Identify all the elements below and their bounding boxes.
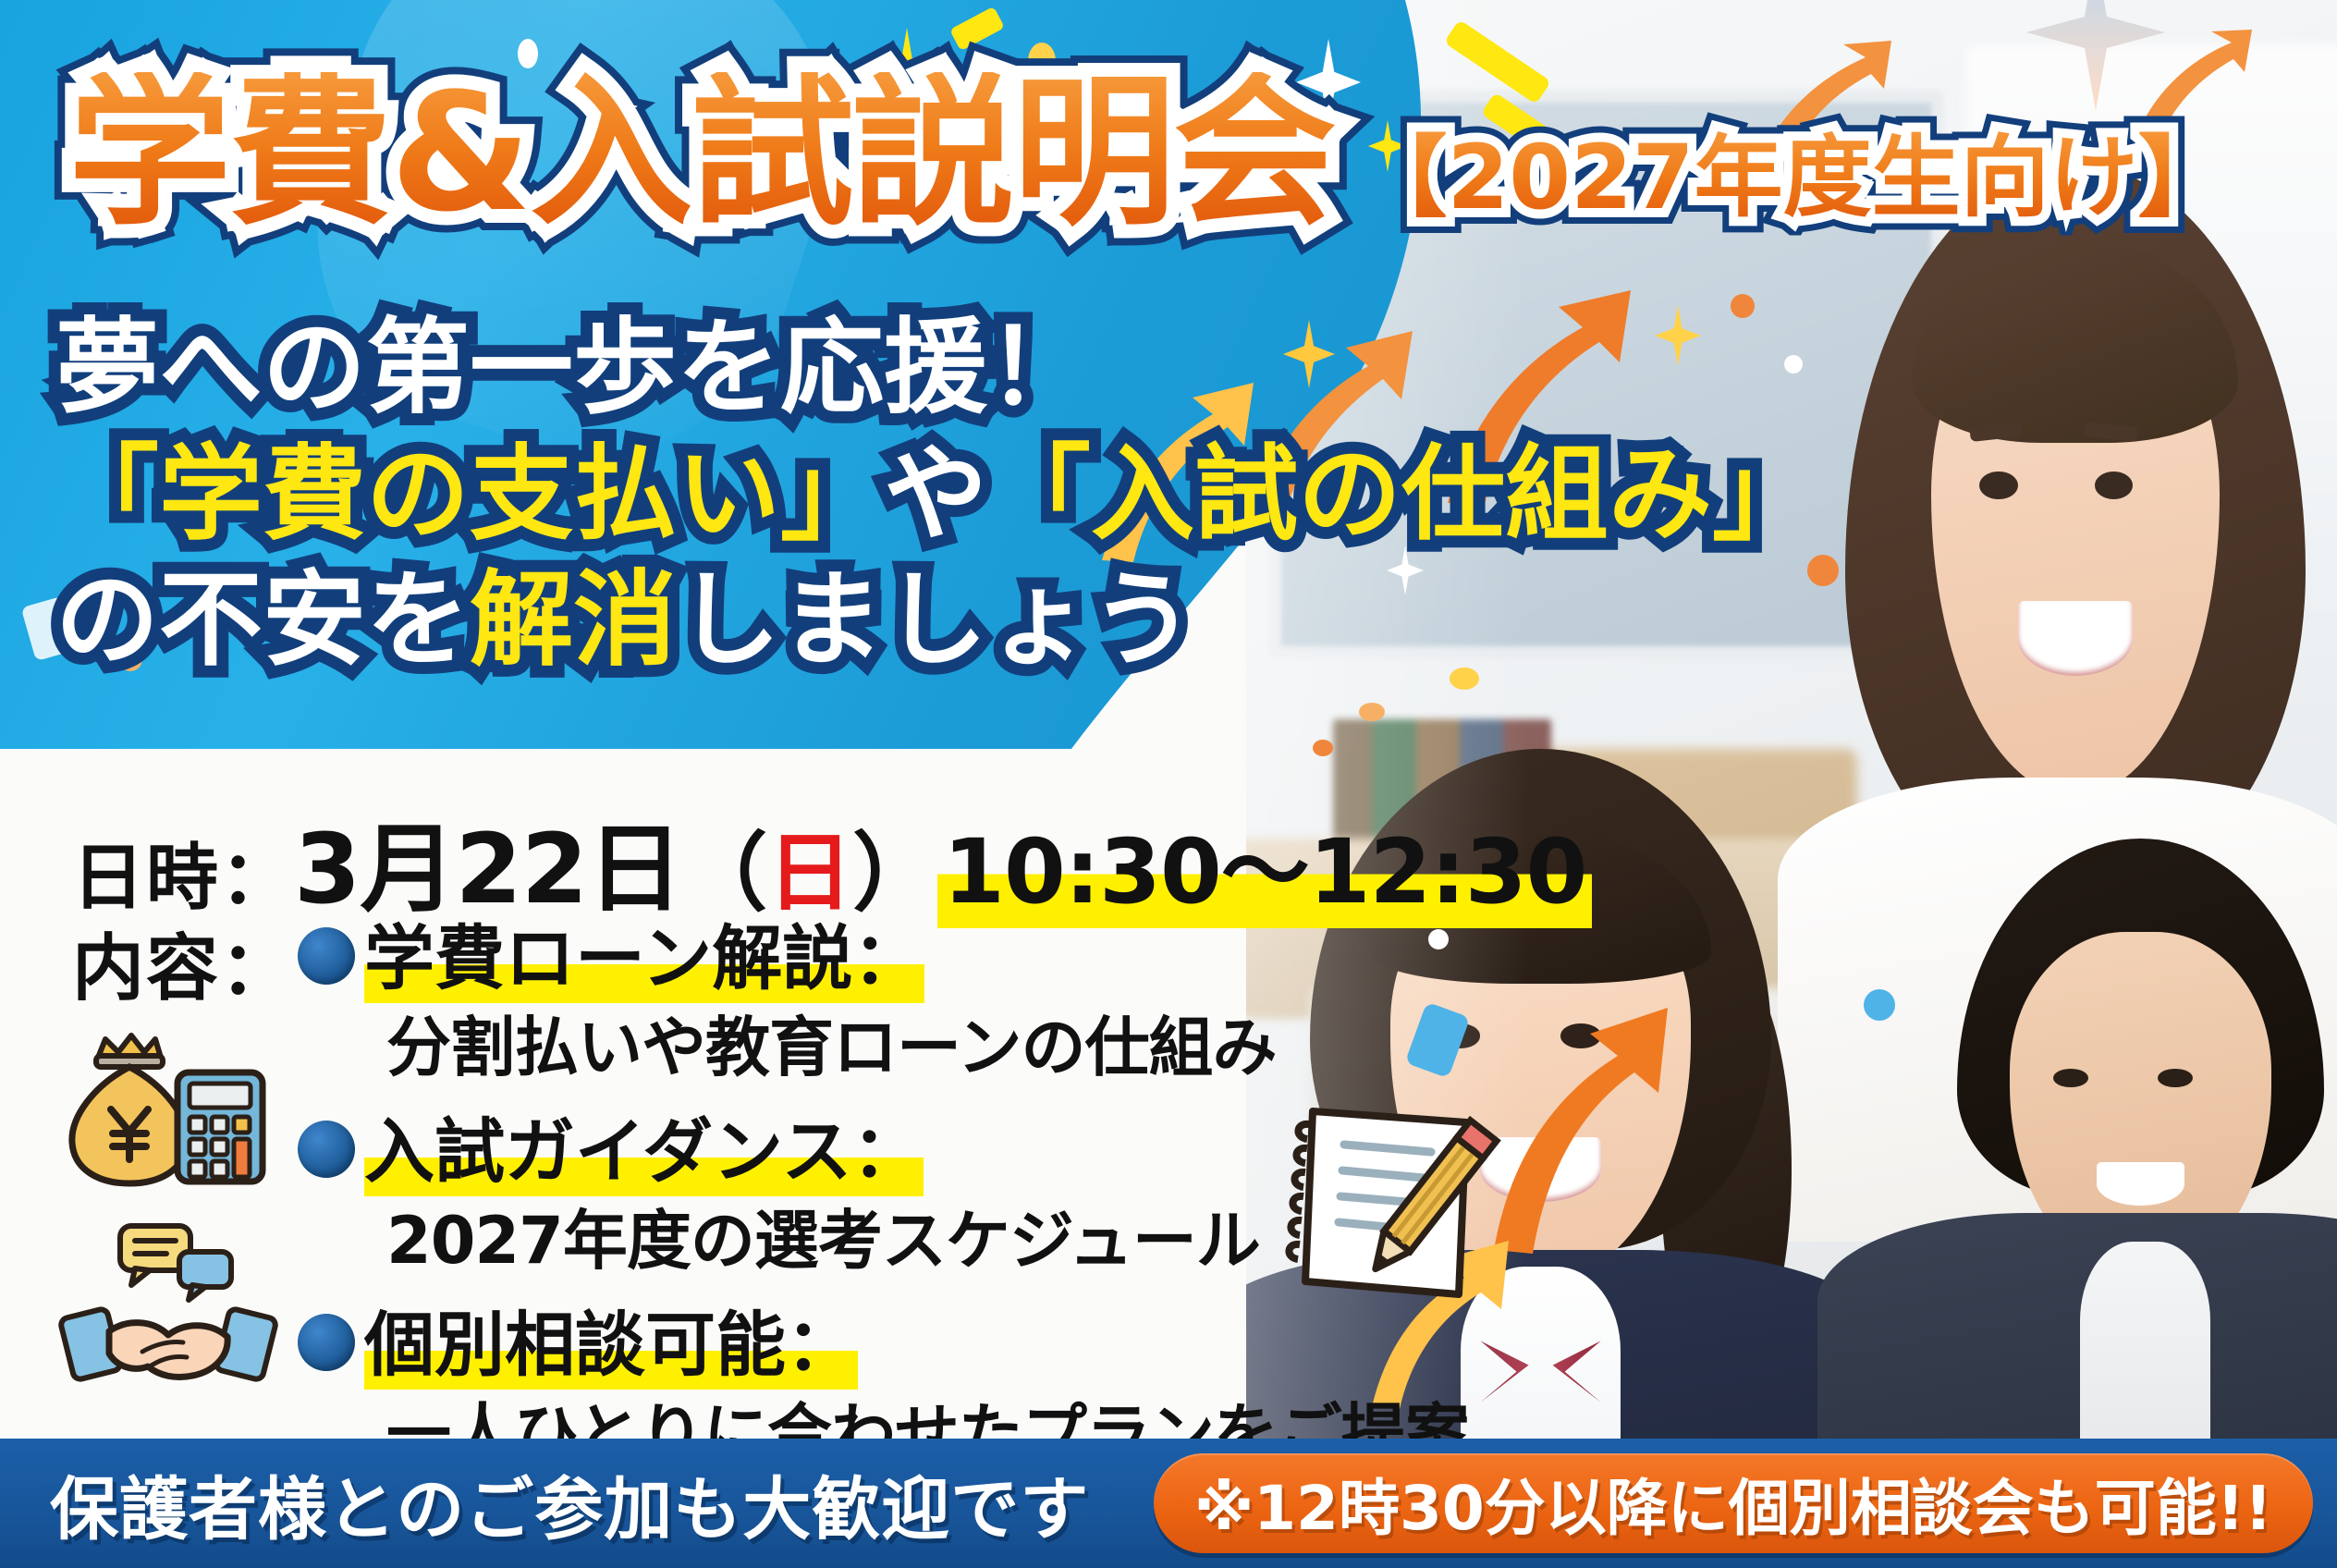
title-block: 学費&入試説明会 学費&入試説明会 学費&入試説明会 【2027年度生向け】 【… bbox=[68, 72, 2227, 235]
note-pill: ※12時30分以降に個別相談会も可能!! bbox=[1154, 1453, 2313, 1553]
blue-bullet-icon bbox=[298, 1314, 355, 1371]
blue-bullet-icon bbox=[298, 1121, 355, 1178]
subtitle-line-2-text: 「学費の支払い」や「入試の仕組み」 bbox=[55, 435, 1816, 555]
list-item-heading: 入試ガイダンス： bbox=[364, 1095, 924, 1196]
list-item-heading-row: 学費ローン解説： bbox=[298, 901, 1469, 1003]
money-bag-calculator-icon bbox=[57, 1024, 279, 1191]
notepad-pencil-icon bbox=[1268, 1084, 1518, 1315]
subtitle-line-2: 「学費の支払い」や「入試の仕組み」 「学費の支払い」や「入試の仕組み」 bbox=[55, 432, 1816, 558]
confetti-dot bbox=[1359, 703, 1385, 721]
title-badge-text: 【2027年度生向け】 bbox=[1359, 126, 2227, 229]
list-item-heading: 学費ローン解説： bbox=[364, 901, 924, 1003]
datetime-label: 日時： bbox=[72, 820, 294, 924]
bottom-banner: 保護者様とのご参加も大歓迎です ※12時30分以降に個別相談会も可能!! bbox=[0, 1439, 2337, 1568]
subtitle-line-1-text: 夢への第一歩を応援！ bbox=[55, 308, 1091, 428]
handshake-icon bbox=[57, 1220, 279, 1391]
poster-canvas: 学費&入試説明会 学費&入試説明会 学費&入試説明会 【2027年度生向け】 【… bbox=[0, 0, 2337, 1568]
list-item-detail: 分割払いや教育ローンの仕組み bbox=[386, 996, 1469, 1089]
title-badge: 【2027年度生向け】 【2027年度生向け】 【2027年度生向け】 bbox=[1359, 133, 2227, 235]
note-pill-text: ※12時30分以降に個別相談会も可能!! bbox=[1194, 1459, 2272, 1548]
list-item-heading: 個別相談可能： bbox=[364, 1288, 858, 1390]
page-title: 学費&入試説明会 bbox=[68, 72, 1335, 235]
confetti-dot bbox=[1313, 740, 1333, 756]
subtitle-block: 夢への第一歩を応援！ 夢への第一歩を応援！ 「学費の支払い」や「入試の仕組み」 … bbox=[55, 305, 1816, 684]
blue-bullet-icon bbox=[298, 927, 355, 985]
content-label: 内容： bbox=[72, 911, 294, 1014]
confetti-dot bbox=[1864, 989, 1895, 1021]
subtitle-line-3: の不安を解消しましょう の不安を解消しましょう bbox=[55, 557, 1816, 684]
banner-message: 保護者様とのご参加も大歓迎です bbox=[50, 1454, 1089, 1553]
list-item: 学費ローン解説： 分割払いや教育ローンの仕組み bbox=[298, 901, 1469, 1089]
subtitle-line-1: 夢への第一歩を応援！ 夢への第一歩を応援！ bbox=[55, 305, 1816, 432]
subtitle-line-3-text: の不安を解消しましょう bbox=[55, 560, 1194, 680]
